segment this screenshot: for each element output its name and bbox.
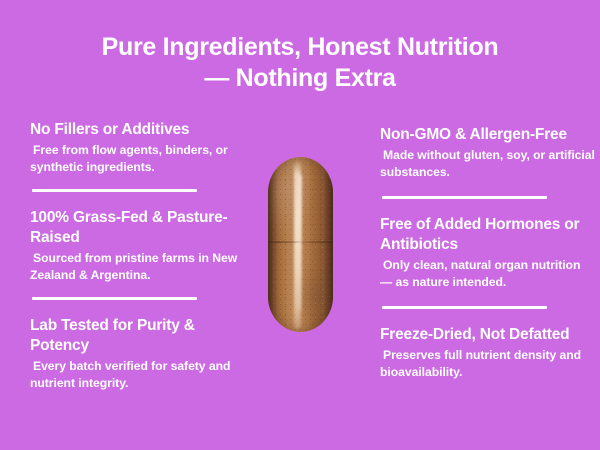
benefit-title: No Fillers or Additives [30, 120, 245, 140]
benefit-description: Free from flow agents, binders, or synth… [30, 142, 245, 175]
benefit-item-no-hormones: Free of Added Hormones or Antibiotics On… [380, 215, 595, 309]
benefit-description: Sourced from pristine farms in New Zeala… [30, 250, 245, 283]
benefit-title: Free of Added Hormones or Antibiotics [380, 215, 595, 255]
product-benefits-poster: Pure Ingredients, Honest Nutrition — Not… [0, 0, 600, 450]
capsule-left-shading [268, 157, 277, 332]
capsule-body [268, 157, 333, 332]
poster-title-line-1: Pure Ingredients, Honest Nutrition [0, 32, 600, 63]
benefit-item-grass-fed: 100% Grass-Fed & Pasture-Raised Sourced … [30, 208, 245, 300]
benefit-description: Only clean, natural organ nutrition — as… [380, 257, 595, 290]
benefit-description: Every batch verified for safety and nutr… [30, 358, 245, 391]
benefit-title: Non-GMO & Allergen-Free [380, 125, 595, 145]
benefit-title: Lab Tested for Purity & Potency [30, 316, 245, 356]
supplement-capsule-image [268, 157, 333, 332]
benefit-description: Made without gluten, soy, or artificial … [380, 147, 595, 180]
poster-title: Pure Ingredients, Honest Nutrition — Not… [0, 32, 600, 94]
benefit-item-lab-tested: Lab Tested for Purity & Potency Every ba… [30, 316, 245, 391]
benefit-title: Freeze-Dried, Not Defatted [380, 325, 595, 345]
benefit-description: Preserves full nutrient density and bioa… [380, 347, 595, 380]
poster-title-line-2: — Nothing Extra [0, 63, 600, 94]
benefit-divider [32, 189, 197, 192]
capsule-seam [268, 241, 333, 243]
benefit-divider [382, 196, 547, 199]
benefit-divider [32, 297, 197, 300]
benefits-column-left: No Fillers or Additives Free from flow a… [30, 120, 245, 391]
benefit-title: 100% Grass-Fed & Pasture-Raised [30, 208, 245, 248]
benefit-divider [382, 306, 547, 309]
benefit-item-non-gmo: Non-GMO & Allergen-Free Made without glu… [380, 125, 595, 199]
benefit-item-freeze-dried: Freeze-Dried, Not Defatted Preserves ful… [380, 325, 595, 380]
benefits-column-right: Non-GMO & Allergen-Free Made without glu… [380, 125, 595, 380]
capsule-right-shading [324, 157, 333, 332]
benefit-item-no-fillers: No Fillers or Additives Free from flow a… [30, 120, 245, 192]
